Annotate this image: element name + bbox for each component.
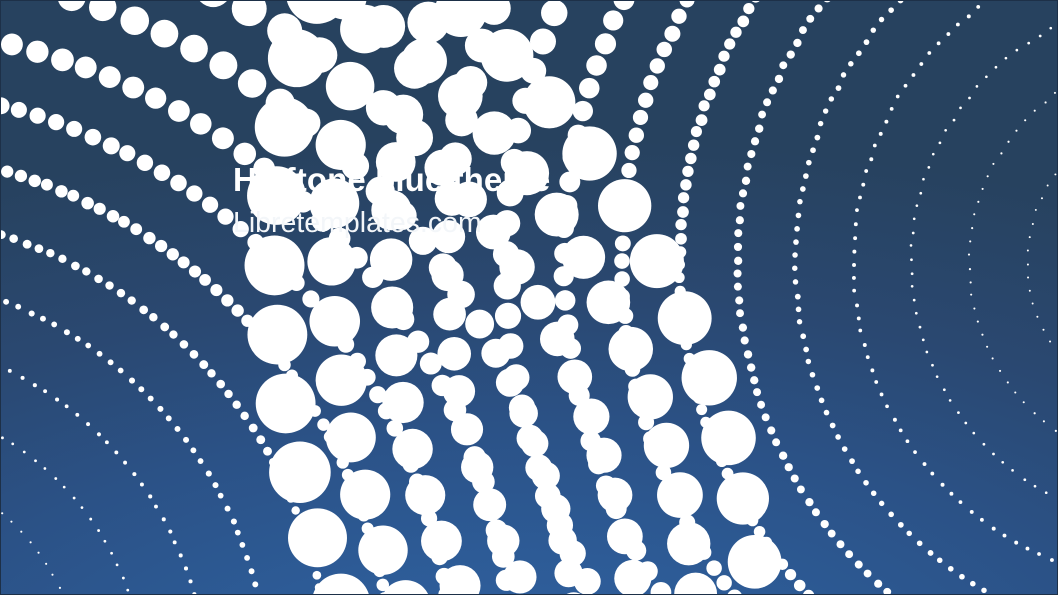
title-text-block: Halftone blue theme Libretemplates.com — [233, 161, 793, 240]
presentation-slide: Halftone blue theme Libretemplates.com — [0, 0, 1058, 595]
halftone-dot-decoration — [1, 1, 1057, 594]
page-subtitle: Libretemplates.com — [233, 206, 793, 240]
page-title: Halftone blue theme — [233, 161, 793, 200]
